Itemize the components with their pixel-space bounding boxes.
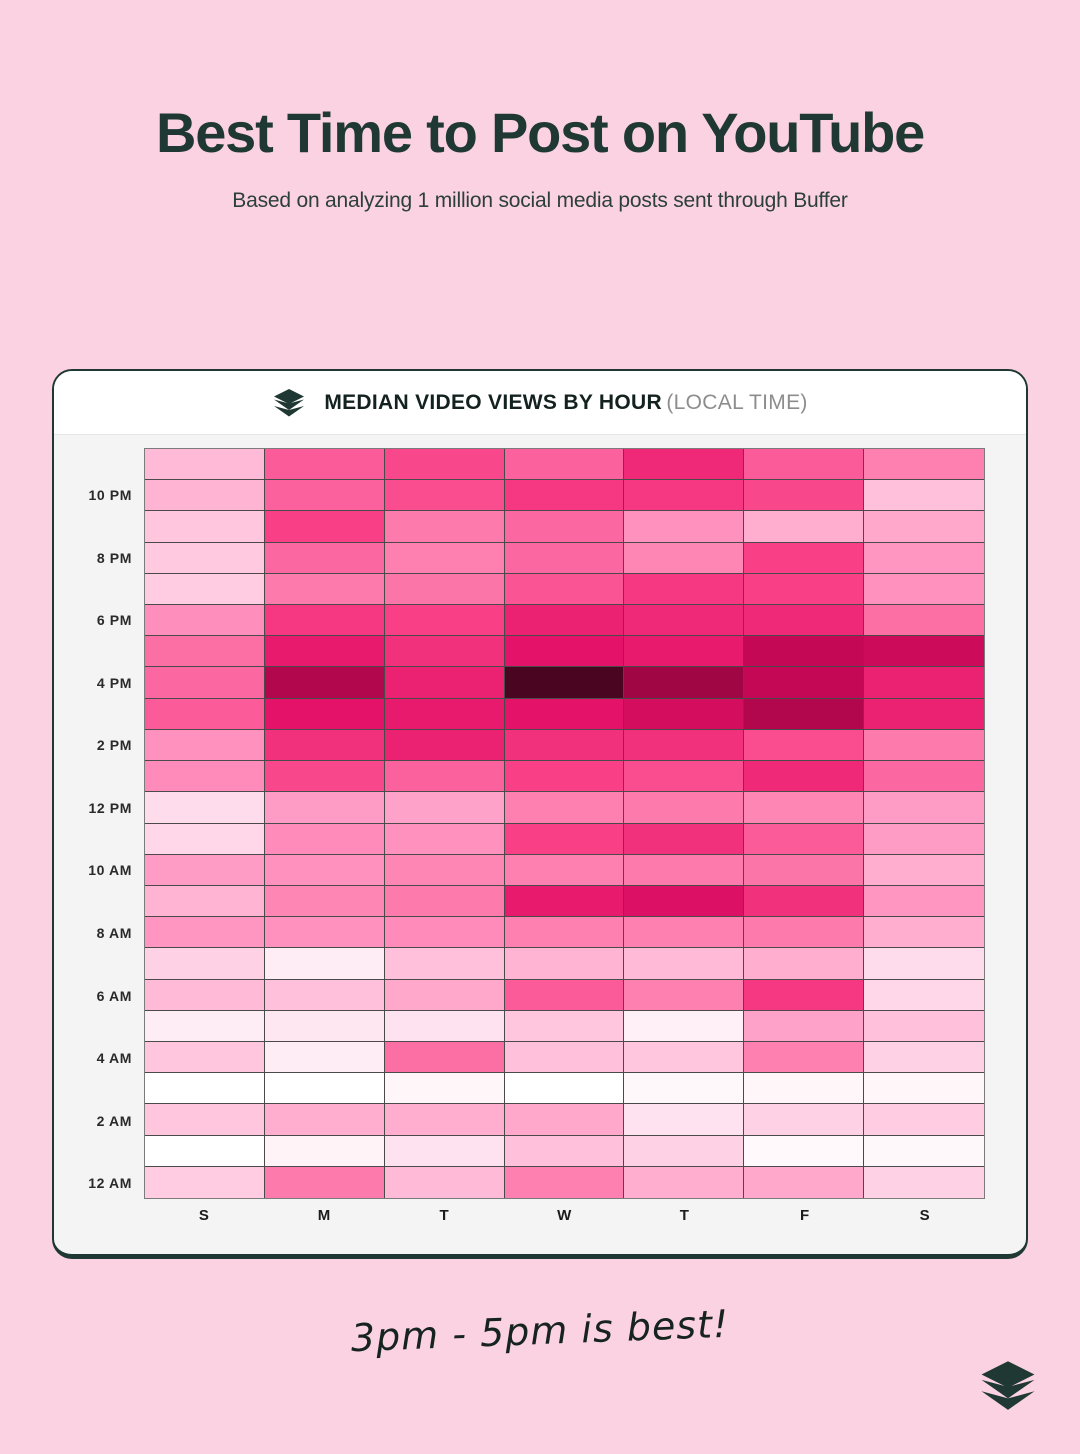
heatmap-cell[interactable] [624,824,744,855]
heatmap-cell[interactable] [864,792,984,823]
heatmap-cell[interactable] [145,730,265,761]
page-subtitle: Based on analyzing 1 million social medi… [0,189,1080,213]
heatmap-cell[interactable] [385,605,505,636]
hour-axis-label: 12 AM [54,1175,132,1191]
heatmap-cell[interactable] [744,1136,864,1167]
buffer-layers-icon [272,386,306,420]
heatmap-cell[interactable] [505,792,625,823]
heatmap-cell[interactable] [145,543,265,574]
heatmap-cell[interactable] [505,730,625,761]
heatmap-cell[interactable] [744,761,864,792]
heatmap-cell[interactable] [145,917,265,948]
heatmap-cell[interactable] [385,1011,505,1042]
heatmap-cell[interactable] [385,449,505,480]
heatmap-cell[interactable] [864,449,984,480]
heatmap-cell[interactable] [265,1042,385,1073]
heatmap-cell[interactable] [505,543,625,574]
heatmap-cell[interactable] [624,511,744,542]
heatmap-cell[interactable] [145,824,265,855]
heatmap-cell[interactable] [385,824,505,855]
heatmap-cell[interactable] [145,605,265,636]
heatmap-cell[interactable] [265,699,385,730]
heatmap-cell[interactable] [385,1073,505,1104]
heatmap-cell[interactable] [744,636,864,667]
heatmap-cell[interactable] [145,480,265,511]
heatmap-cell[interactable] [145,761,265,792]
heatmap-cell[interactable] [624,1167,744,1198]
heatmap-cell[interactable] [145,667,265,698]
heatmap-cell[interactable] [624,449,744,480]
heatmap-cell[interactable] [505,480,625,511]
heatmap-cell[interactable] [265,1073,385,1104]
heatmap-cell[interactable] [744,699,864,730]
heatmap-cell[interactable] [385,730,505,761]
heatmap-cell[interactable] [145,1136,265,1167]
heatmap-cell[interactable] [624,605,744,636]
heatmap-cell[interactable] [624,730,744,761]
heatmap-cell[interactable] [505,1104,625,1135]
heatmap-cell[interactable] [505,1073,625,1104]
heatmap-cell[interactable] [624,1042,744,1073]
hour-axis-label: 4 PM [54,675,132,691]
heatmap-cell[interactable] [145,948,265,979]
heatmap-cell[interactable] [505,1011,625,1042]
heatmap-cell[interactable] [385,511,505,542]
heatmap-cell[interactable] [744,1042,864,1073]
heatmap-cell[interactable] [505,1136,625,1167]
heatmap-cell[interactable] [624,855,744,886]
heatmap-cell[interactable] [744,449,864,480]
heatmap-cell[interactable] [744,730,864,761]
heatmap-cell[interactable] [864,855,984,886]
heatmap-cell[interactable] [864,1073,984,1104]
heatmap-cell[interactable] [265,667,385,698]
chart-card: MEDIAN VIDEO VIEWS BY HOUR (LOCAL TIME) … [52,369,1028,1259]
heatmap-cell[interactable] [145,1042,265,1073]
heatmap-cell[interactable] [145,574,265,605]
heatmap-grid[interactable] [144,448,985,1199]
heatmap-cell[interactable] [624,667,744,698]
heatmap-cell[interactable] [265,824,385,855]
heatmap-cell[interactable] [864,699,984,730]
heatmap-cell[interactable] [505,1042,625,1073]
heatmap-cell[interactable] [385,574,505,605]
heatmap-cell[interactable] [145,886,265,917]
heatmap-cell[interactable] [864,543,984,574]
heatmap-cell[interactable] [624,792,744,823]
day-axis-label: S [144,1207,264,1224]
heatmap-cell[interactable] [864,480,984,511]
heatmap-cell[interactable] [385,948,505,979]
heatmap-cell[interactable] [864,574,984,605]
heatmap-cell[interactable] [744,886,864,917]
heatmap-cell[interactable] [744,1073,864,1104]
heatmap-cell[interactable] [864,730,984,761]
heatmap-cell[interactable] [744,1011,864,1042]
heatmap-cell[interactable] [505,1167,625,1198]
day-axis-label: M [264,1207,384,1224]
heatmap-cell[interactable] [864,605,984,636]
hour-axis: 10 PM8 PM6 PM4 PM2 PM12 PM10 AM8 AM6 AM4… [54,448,132,1199]
heatmap-cell[interactable] [385,543,505,574]
heatmap-cell[interactable] [265,980,385,1011]
heatmap-cell[interactable] [265,1136,385,1167]
heatmap-cell[interactable] [385,1104,505,1135]
day-axis-label: S [865,1207,985,1224]
heatmap-cell[interactable] [265,886,385,917]
heatmap-cell[interactable] [624,1136,744,1167]
heatmap-cell[interactable] [505,449,625,480]
heatmap-cell[interactable] [744,1104,864,1135]
hour-axis-label: 2 AM [54,1113,132,1129]
heatmap-cell[interactable] [864,917,984,948]
heatmap-cell[interactable] [624,1011,744,1042]
heatmap-cell[interactable] [265,511,385,542]
heatmap-cell[interactable] [505,980,625,1011]
heatmap-cell[interactable] [145,855,265,886]
heatmap-cell[interactable] [624,917,744,948]
page-title: Best Time to Post on YouTube [0,104,1080,163]
heatmap-cell[interactable] [265,792,385,823]
heatmap-cell[interactable] [505,574,625,605]
heatmap-cell[interactable] [265,449,385,480]
heatmap-cell[interactable] [864,761,984,792]
heatmap-cell[interactable] [624,980,744,1011]
heatmap-cell[interactable] [145,792,265,823]
heatmap-cell[interactable] [385,855,505,886]
heatmap-cell[interactable] [145,449,265,480]
heatmap-cell[interactable] [385,699,505,730]
card-header: MEDIAN VIDEO VIEWS BY HOUR (LOCAL TIME) [54,371,1026,435]
card-title: MEDIAN VIDEO VIEWS BY HOUR (LOCAL TIME) [324,391,807,415]
heatmap-cell[interactable] [624,636,744,667]
heatmap-cell[interactable] [744,917,864,948]
hour-axis-label: 8 PM [54,550,132,566]
heatmap-cell[interactable] [505,761,625,792]
heatmap-cell[interactable] [145,1073,265,1104]
heatmap-cell[interactable] [145,1011,265,1042]
heatmap-cell[interactable] [744,948,864,979]
heatmap-cell[interactable] [864,1167,984,1198]
heatmap-cell[interactable] [624,574,744,605]
heatmap-cell[interactable] [505,824,625,855]
day-axis-label: T [625,1207,745,1224]
heatmap-cell[interactable] [145,980,265,1011]
hour-axis-label: 2 PM [54,737,132,753]
heatmap-cell[interactable] [265,1104,385,1135]
hour-axis-label: 6 PM [54,612,132,628]
heatmap-cell[interactable] [265,574,385,605]
heatmap-cell[interactable] [744,667,864,698]
heatmap-cell[interactable] [385,1042,505,1073]
heatmap-cell[interactable] [385,792,505,823]
heatmap-cell[interactable] [265,730,385,761]
heatmap-cell[interactable] [505,948,625,979]
heatmap-cell[interactable] [265,636,385,667]
heatmap-cell[interactable] [505,511,625,542]
heatmap-cell[interactable] [265,948,385,979]
heatmap-cell[interactable] [505,605,625,636]
heatmap-cell[interactable] [385,667,505,698]
heatmap-cell[interactable] [505,636,625,667]
hour-axis-label: 8 AM [54,925,132,941]
heatmap-cell[interactable] [744,543,864,574]
heatmap-cell[interactable] [864,980,984,1011]
heatmap-cell[interactable] [624,1104,744,1135]
heatmap-cell[interactable] [744,824,864,855]
heatmap-cell[interactable] [505,917,625,948]
footer-caption: 3pm - 5pm is best! [0,1288,1080,1373]
heatmap-cell[interactable] [505,699,625,730]
day-axis-label: T [384,1207,504,1224]
hour-axis-label: 6 AM [54,988,132,1004]
heatmap-cell[interactable] [505,886,625,917]
heatmap-cell[interactable] [145,636,265,667]
heatmap-cell[interactable] [624,761,744,792]
buffer-layers-icon [978,1356,1038,1416]
heatmap-cell[interactable] [265,1167,385,1198]
heatmap-cell[interactable] [864,886,984,917]
heatmap-area: 10 PM8 PM6 PM4 PM2 PM12 PM10 AM8 AM6 AM4… [54,435,1026,1256]
heatmap-cell[interactable] [864,1104,984,1135]
heatmap-cell[interactable] [744,574,864,605]
hour-axis-label: 10 AM [54,862,132,878]
heatmap-cell[interactable] [864,1011,984,1042]
heatmap-cell[interactable] [385,480,505,511]
heatmap-cell[interactable] [385,1136,505,1167]
heatmap-cell[interactable] [624,480,744,511]
heatmap-cell[interactable] [505,667,625,698]
heatmap-cell[interactable] [744,511,864,542]
heatmap-cell[interactable] [145,511,265,542]
day-axis-label: W [504,1207,624,1224]
heatmap-cell[interactable] [265,761,385,792]
heatmap-cell[interactable] [385,761,505,792]
card-title-main: MEDIAN VIDEO VIEWS BY HOUR [324,391,662,414]
heatmap-cell[interactable] [864,824,984,855]
heatmap-cell[interactable] [265,605,385,636]
hour-axis-label: 12 PM [54,800,132,816]
heatmap-cell[interactable] [624,886,744,917]
heatmap-cell[interactable] [864,1136,984,1167]
heatmap-cell[interactable] [864,511,984,542]
heatmap-cell[interactable] [145,1104,265,1135]
heatmap-cell[interactable] [385,636,505,667]
heatmap-cell[interactable] [265,543,385,574]
heatmap-cell[interactable] [385,886,505,917]
heatmap-cell[interactable] [744,605,864,636]
heatmap-cell[interactable] [385,917,505,948]
heatmap-cell[interactable] [265,1011,385,1042]
heatmap-cell[interactable] [744,480,864,511]
heatmap-cell[interactable] [145,1167,265,1198]
heatmap-cell[interactable] [385,980,505,1011]
heatmap-cell[interactable] [624,1073,744,1104]
heatmap-cell[interactable] [864,667,984,698]
heatmap-cell[interactable] [265,917,385,948]
heatmap-cell[interactable] [145,699,265,730]
hour-axis-label: 4 AM [54,1050,132,1066]
card-title-sub: (LOCAL TIME) [666,391,807,414]
hour-axis-label: 10 PM [54,487,132,503]
heatmap-cell[interactable] [864,636,984,667]
heatmap-cell[interactable] [505,855,625,886]
heatmap-cell[interactable] [744,980,864,1011]
heatmap-cell[interactable] [744,855,864,886]
heatmap-cell[interactable] [624,948,744,979]
heatmap-cell[interactable] [265,480,385,511]
heatmap-cell[interactable] [744,792,864,823]
heatmap-cell[interactable] [744,1167,864,1198]
day-axis-label: F [745,1207,865,1224]
heatmap-cell[interactable] [624,699,744,730]
heatmap-cell[interactable] [385,1167,505,1198]
heatmap-cell[interactable] [624,543,744,574]
day-axis: SMTWTFS [144,1207,985,1224]
heatmap-cell[interactable] [265,855,385,886]
heatmap-cell[interactable] [864,1042,984,1073]
heatmap-cell[interactable] [864,948,984,979]
